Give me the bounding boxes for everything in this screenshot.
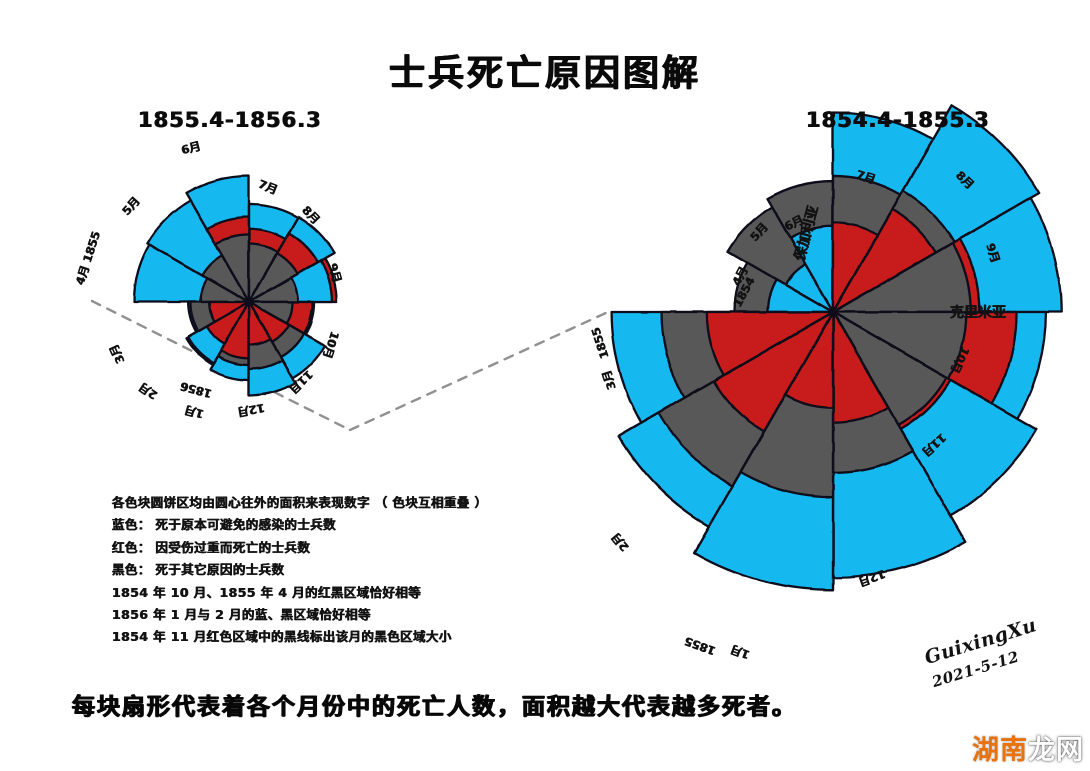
legend-line: 1854 年 10 月、1855 年 4 月的红黑区域恰好相等 <box>112 582 582 604</box>
watermark-part-a: 湖南 <box>972 735 1028 766</box>
watermark-part-b: 龙网 <box>1028 735 1084 766</box>
legend-line: 1856 年 1 月与 2 月的蓝、黑区域恰好相等 <box>112 604 582 626</box>
legend-line: 黑色： 死于其它原因的士兵数 <box>112 559 582 581</box>
period-label-right: 1854.4-1855.3 <box>806 108 990 132</box>
legend-line: 各色块圆饼区均由圆心往外的面积来表现数字 （ 色块互相重叠 ） <box>112 492 582 514</box>
page-title: 士兵死亡原因图解 <box>0 44 1090 96</box>
watermark: 湖南龙网 <box>972 728 1084 767</box>
legend-block: 各色块圆饼区均由圆心往外的面积来表现数字 （ 色块互相重叠 ）蓝色： 死于原本可… <box>112 492 582 649</box>
period-label-left: 1855.4-1856.3 <box>138 108 322 132</box>
legend-line: 蓝色： 死于原本可避免的感染的士兵数 <box>112 514 582 536</box>
chart-caption: 每块扇形代表着各个月份中的死亡人数，面积越大代表越多死者。 <box>72 687 797 721</box>
legend-line: 红色： 因受伤过重而死亡的士兵数 <box>112 537 582 559</box>
legend-line: 1854 年 11 月红色区域中的黑线标出该月的黑色区域大小 <box>112 626 582 648</box>
chart-label: 克里米亚 <box>950 302 1006 322</box>
